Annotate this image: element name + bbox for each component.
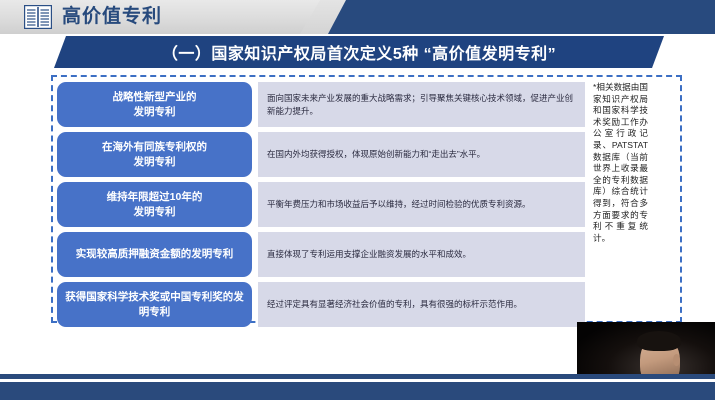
category-description: 平衡年费压力和市场收益后予以维持，经过时间检验的优质专利资源。 bbox=[258, 182, 585, 227]
patent-category-list: 战略性新型产业的 发明专利 面向国家未来产业发展的重大战略需求；引导聚焦关键核心… bbox=[57, 82, 585, 327]
section-banner-label: （一）国家知识产权局首次定义5种 “高价值发明专利” bbox=[54, 36, 664, 68]
list-item[interactable]: 获得国家科学技术奖或中国专利奖的发 明专利 经过评定具有显著经济社会价值的专利，… bbox=[57, 282, 585, 327]
category-label-line1: 战略性新型产业的 bbox=[113, 91, 197, 103]
presenter-hair bbox=[637, 331, 681, 351]
list-item[interactable]: 实现较高质押融资金额的发明专利 直接体现了专利运用支撑企业融资发展的水平和成效。 bbox=[57, 232, 585, 277]
category-label-line2: 发明专利 bbox=[134, 206, 176, 218]
category-pill[interactable]: 获得国家科学技术奖或中国专利奖的发 明专利 bbox=[57, 282, 252, 327]
category-description: 面向国家未来产业发展的重大战略需求；引导聚焦关键核心技术领域，促进产业创新能力提… bbox=[258, 82, 585, 127]
category-label-line2: 发明专利 bbox=[134, 106, 176, 118]
category-label-line1: 获得国家科学技术奖或中国专利奖的发 bbox=[65, 291, 244, 303]
section-banner: （一）国家知识产权局首次定义5种 “高价值发明专利” bbox=[54, 36, 664, 68]
category-description: 在国内外均获得授权，体现原始创新能力和“走出去”水平。 bbox=[258, 132, 585, 177]
slide-header: 高价值专利 bbox=[0, 0, 715, 34]
category-pill[interactable]: 实现较高质押融资金额的发明专利 bbox=[57, 232, 252, 277]
footer-bar-bottom bbox=[0, 382, 715, 400]
category-label-line1: 实现较高质押融资金额的发明专利 bbox=[76, 247, 234, 262]
source-note: *相关数据由国家知识产权局和国家科学技术奖励工作办公室行政记录、PATSTAT数… bbox=[593, 82, 648, 244]
category-pill[interactable]: 战略性新型产业的 发明专利 bbox=[57, 82, 252, 127]
category-description: 经过评定具有显著经济社会价值的专利，具有很强的标杆示范作用。 bbox=[258, 282, 585, 327]
category-label-line1: 在海外有同族专利权的 bbox=[102, 141, 207, 153]
category-label-line2: 发明专利 bbox=[134, 156, 176, 168]
presenter-ear bbox=[673, 354, 680, 366]
category-label-line2: 明专利 bbox=[139, 306, 171, 318]
list-item[interactable]: 战略性新型产业的 发明专利 面向国家未来产业发展的重大战略需求；引导聚焦关键核心… bbox=[57, 82, 585, 127]
header-blue-shape bbox=[320, 0, 715, 34]
category-pill[interactable]: 在海外有同族专利权的 发明专利 bbox=[57, 132, 252, 177]
page-title: 高价值专利 bbox=[62, 5, 162, 29]
category-description: 直接体现了专利运用支撑企业融资发展的水平和成效。 bbox=[258, 232, 585, 277]
list-item[interactable]: 在海外有同族专利权的 发明专利 在国内外均获得授权，体现原始创新能力和“走出去”… bbox=[57, 132, 585, 177]
category-pill[interactable]: 维持年限超过10年的 发明专利 bbox=[57, 182, 252, 227]
list-item[interactable]: 维持年限超过10年的 发明专利 平衡年费压力和市场收益后予以维持，经过时间检验的… bbox=[57, 182, 585, 227]
open-book-icon bbox=[24, 5, 52, 29]
category-label-line1: 维持年限超过10年的 bbox=[107, 191, 203, 203]
